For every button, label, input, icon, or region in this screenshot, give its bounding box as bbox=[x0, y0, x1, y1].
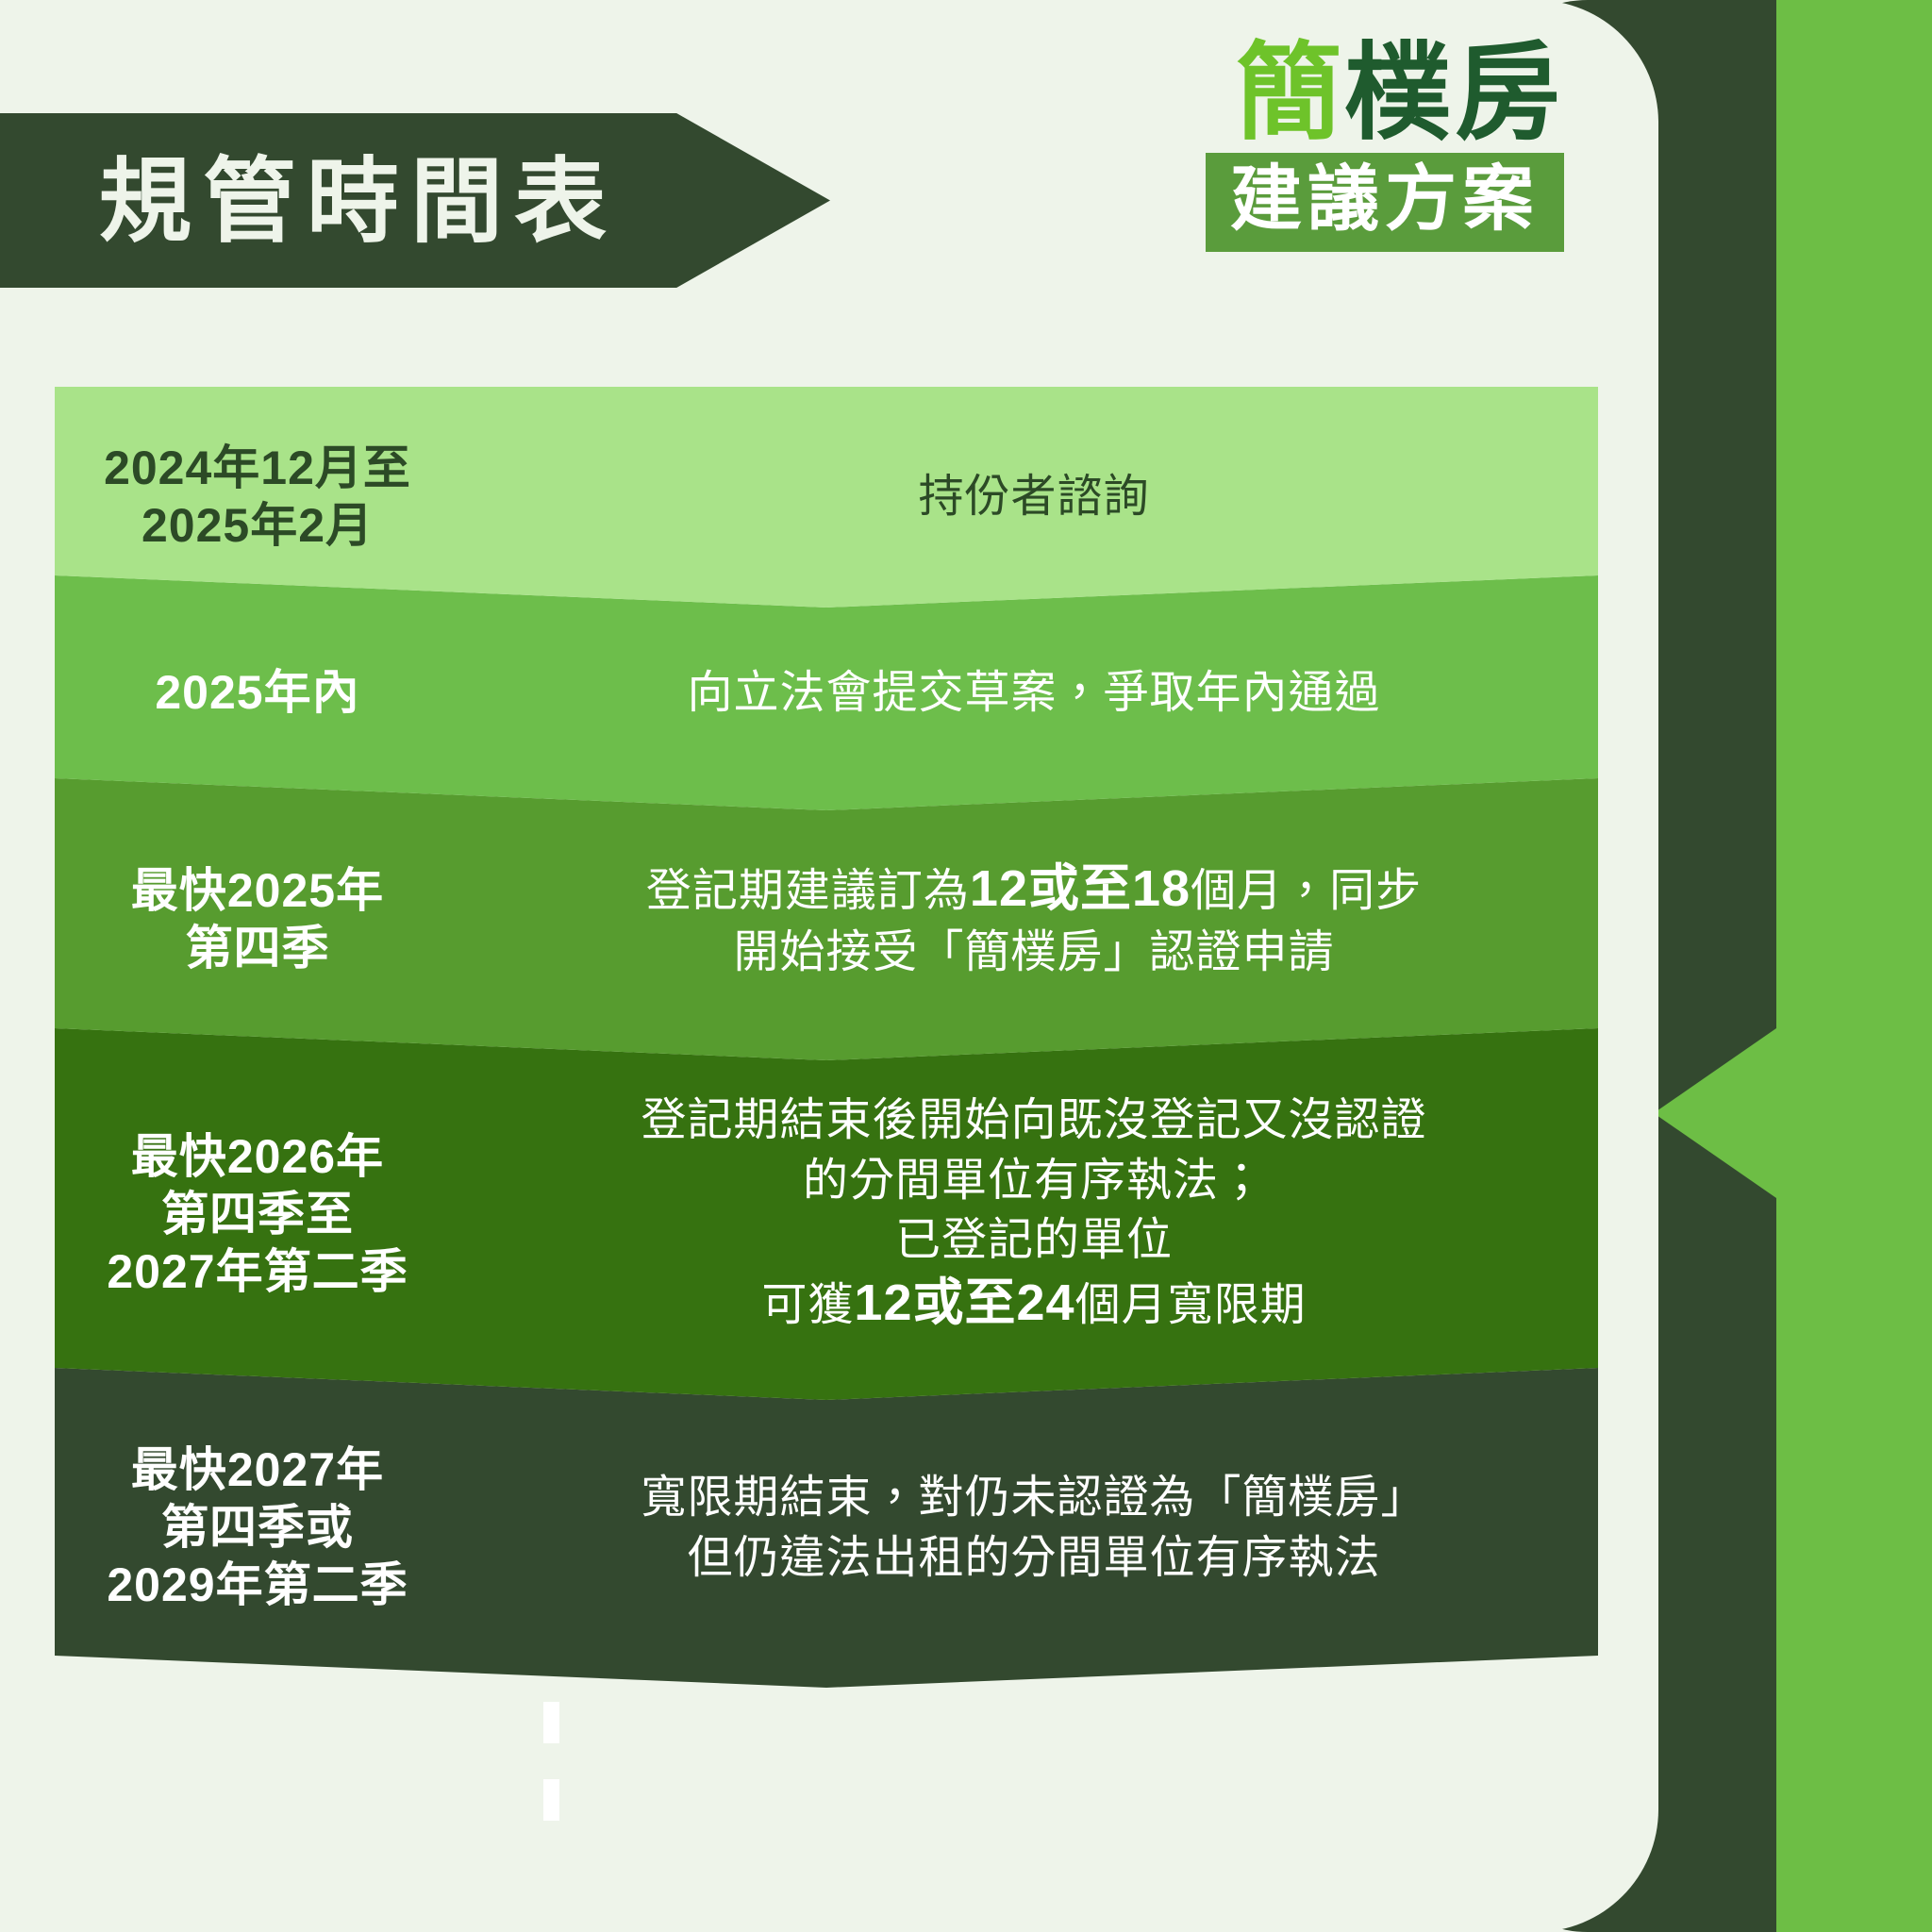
timeline-date-line: 2025年2月 bbox=[83, 497, 432, 555]
timeline-row[interactable]: 最快2027年第四季或2029年第二季寬限期結束，對仍未認證為「簡樸房」但仍違法… bbox=[55, 1368, 1598, 1688]
timeline-row[interactable]: 最快2025年第四季登記期建議訂為12或至18個月，同步開始接受「簡樸房」認證申… bbox=[55, 778, 1598, 1060]
timeline-date-line: 第四季或 bbox=[83, 1499, 432, 1557]
plain-text: 寬限期結束，對仍未認證為「簡樸房」 bbox=[641, 1473, 1426, 1523]
logo-rest-chars: 樸房 bbox=[1345, 34, 1564, 152]
timeline-row-content: 最快2025年第四季登記期建議訂為12或至18個月，同步開始接受「簡樸房」認證申… bbox=[55, 778, 1598, 1060]
timeline-row-date: 2024年12月至2025年2月 bbox=[55, 440, 432, 555]
timeline-row-content: 2025年內向立法會提交草案，爭取年內通過 bbox=[55, 575, 1598, 810]
plain-text: 的分間單位有序執法； bbox=[803, 1156, 1265, 1206]
timeline-description-line: 可獲12或至24個月寬限期 bbox=[508, 1270, 1560, 1337]
plain-text: 但仍違法出租的分間單位有序執法 bbox=[687, 1533, 1380, 1583]
timeline-date-line: 最快2025年 bbox=[83, 862, 432, 920]
page-title: 規管時間表 bbox=[99, 155, 618, 247]
plain-text: 向立法會提交草案，爭取年內通過 bbox=[687, 668, 1380, 718]
timeline-description-line: 向立法會提交草案，爭取年內通過 bbox=[508, 663, 1560, 723]
timeline-date-line: 2027年第二季 bbox=[83, 1243, 432, 1301]
timeline-row-content: 最快2027年第四季或2029年第二季寬限期結束，對仍未認證為「簡樸房」但仍違法… bbox=[55, 1368, 1598, 1688]
timeline-description-line: 已登記的單位 bbox=[508, 1210, 1560, 1270]
timeline-date-line: 最快2027年 bbox=[83, 1441, 432, 1499]
plain-text: 登記期結束後開始向既沒登記又沒認證 bbox=[641, 1095, 1426, 1145]
plain-text: 可獲 bbox=[761, 1280, 854, 1330]
timeline-date-line: 2025年內 bbox=[83, 664, 432, 722]
infographic-canvas: 規管時間表 簡樸房 建議方案 2024年12月至2025年2月持份者諮詢2025… bbox=[0, 0, 1932, 1932]
plain-text: 個月寬限期 bbox=[1075, 1280, 1307, 1330]
timeline-date-line: 第四季至 bbox=[83, 1186, 432, 1243]
timeline-row-date: 最快2026年第四季至2027年第二季 bbox=[55, 1128, 432, 1301]
title-banner: 規管時間表 bbox=[0, 113, 830, 288]
emphasis-text: 12或至18 bbox=[970, 860, 1191, 917]
plain-text: 已登記的單位 bbox=[895, 1215, 1173, 1265]
timeline-date-line: 第四季 bbox=[83, 920, 432, 977]
timeline-description-line: 寬限期結束，對仍未認證為「簡樸房」 bbox=[508, 1468, 1560, 1527]
timeline-description-line: 但仍違法出租的分間單位有序執法 bbox=[508, 1528, 1560, 1588]
timeline-row-content: 最快2026年第四季至2027年第二季登記期結束後開始向既沒登記又沒認證的分間單… bbox=[55, 1028, 1598, 1400]
brand-logo: 簡樸房 建議方案 bbox=[1206, 38, 1564, 252]
logo-subtitle: 建議方案 bbox=[1230, 158, 1540, 241]
timeline-row[interactable]: 最快2026年第四季至2027年第二季登記期結束後開始向既沒登記又沒認證的分間單… bbox=[55, 1028, 1598, 1400]
plain-text: 開始接受「簡樸房」認證申請 bbox=[733, 927, 1334, 977]
timeline-row-description: 寬限期結束，對仍未認證為「簡樸房」但仍違法出租的分間單位有序執法 bbox=[432, 1468, 1598, 1588]
timeline-description-line: 開始接受「簡樸房」認證申請 bbox=[508, 923, 1560, 982]
timeline-description-line: 的分間單位有序執法； bbox=[508, 1151, 1560, 1210]
logo-wordmark: 簡樸房 bbox=[1206, 38, 1564, 149]
emphasis-text: 12或至24 bbox=[854, 1274, 1074, 1331]
timeline-date-line: 2029年第二季 bbox=[83, 1557, 432, 1614]
timeline-row-content: 2024年12月至2025年2月持份者諮詢 bbox=[55, 387, 1598, 608]
logo-subtitle-box: 建議方案 bbox=[1206, 153, 1564, 252]
timeline-row-date: 最快2025年第四季 bbox=[55, 862, 432, 977]
timeline-date-line: 2024年12月至 bbox=[83, 440, 432, 497]
timeline-row[interactable]: 2024年12月至2025年2月持份者諮詢 bbox=[55, 387, 1598, 608]
timeline-row-description: 登記期建議訂為12或至18個月，同步開始接受「簡樸房」認證申請 bbox=[432, 856, 1598, 983]
timeline-description-line: 登記期建議訂為12或至18個月，同步 bbox=[508, 856, 1560, 923]
timeline-row-description: 持份者諮詢 bbox=[432, 467, 1598, 526]
timeline-row-date: 最快2027年第四季或2029年第二季 bbox=[55, 1441, 432, 1614]
logo-highlight-char: 簡 bbox=[1236, 34, 1345, 152]
timeline-row[interactable]: 2025年內向立法會提交草案，爭取年內通過 bbox=[55, 575, 1598, 810]
plain-text: 持份者諮詢 bbox=[918, 472, 1149, 522]
timeline-row-description: 登記期結束後開始向既沒登記又沒認證的分間單位有序執法；已登記的單位可獲12或至2… bbox=[432, 1091, 1598, 1337]
timeline-bands: 2024年12月至2025年2月持份者諮詢2025年內向立法會提交草案，爭取年內… bbox=[55, 387, 1598, 1656]
timeline-description-line: 登記期結束後開始向既沒登記又沒認證 bbox=[508, 1091, 1560, 1150]
timeline-row-date: 2025年內 bbox=[55, 664, 432, 722]
timeline-date-line: 最快2026年 bbox=[83, 1128, 432, 1186]
plain-text: 個月，同步 bbox=[1191, 866, 1422, 916]
timeline-row-description: 向立法會提交草案，爭取年內通過 bbox=[432, 663, 1598, 723]
plain-text: 登記期建議訂為 bbox=[646, 866, 970, 916]
timeline-description-line: 持份者諮詢 bbox=[508, 467, 1560, 526]
